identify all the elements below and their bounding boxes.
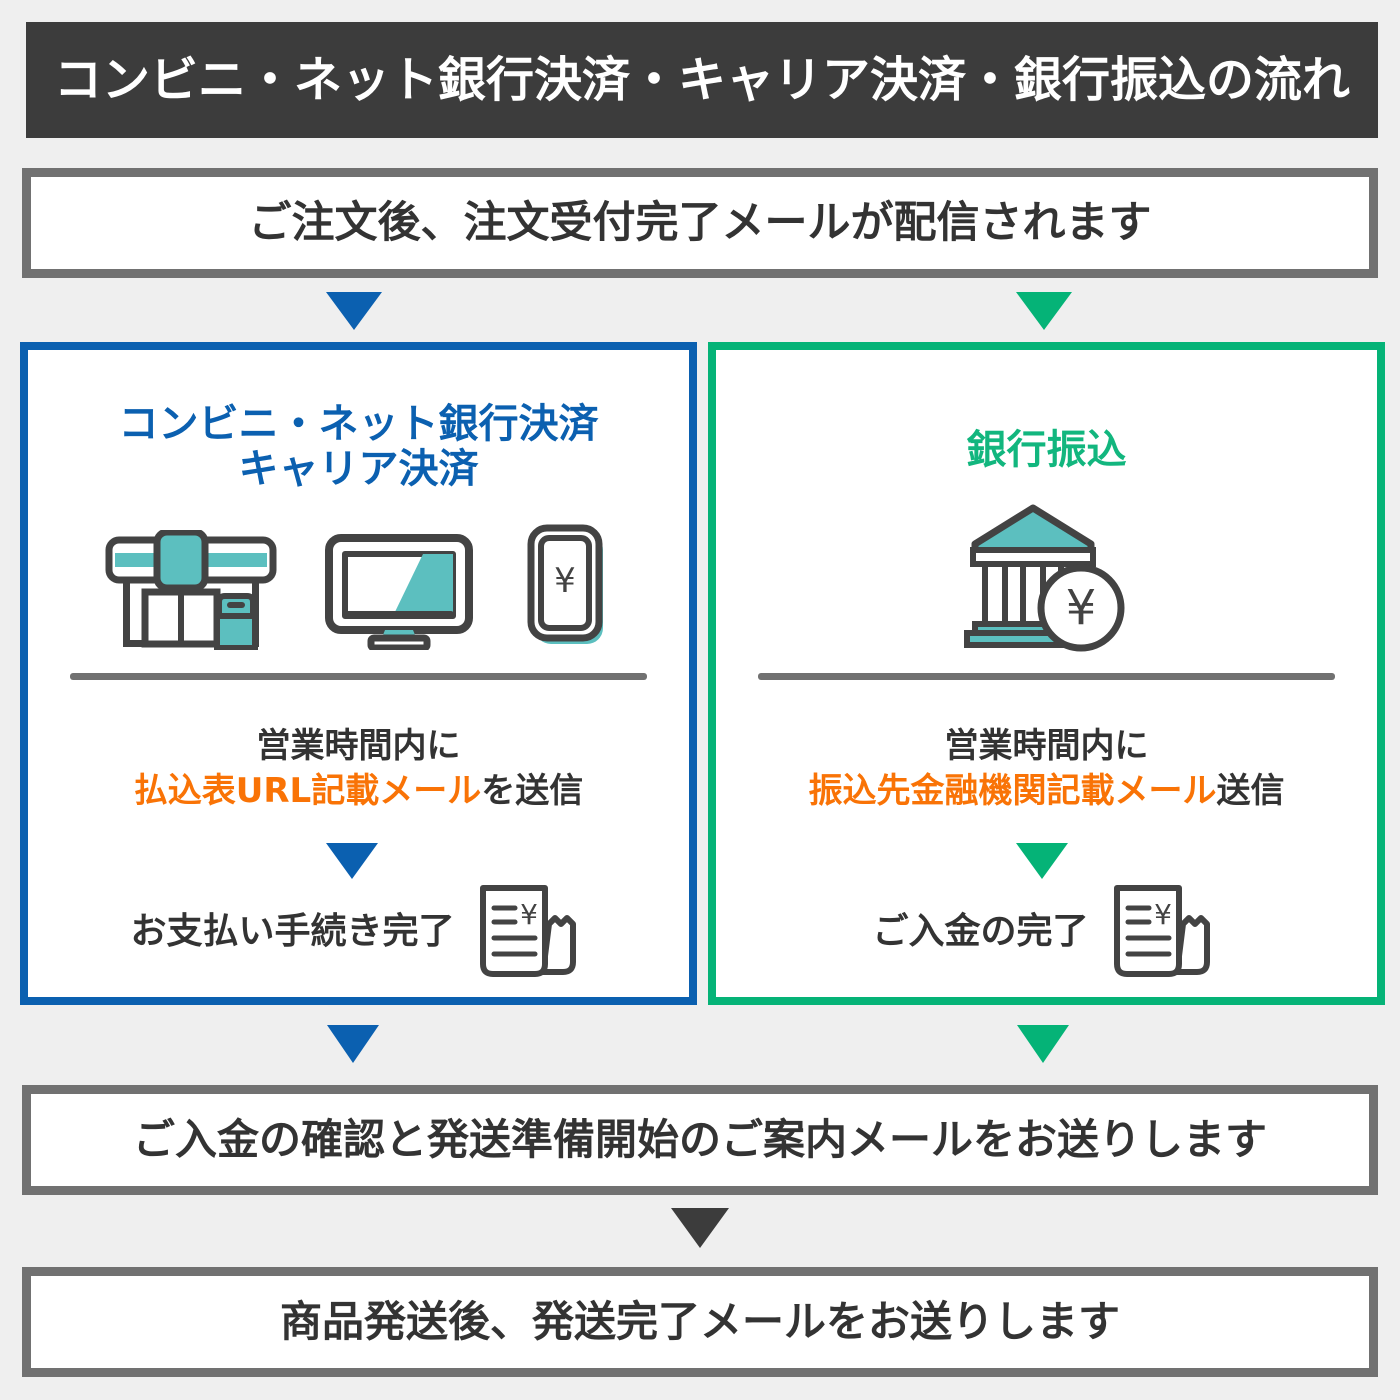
panel-convenience-heading-line2: キャリア決済 <box>239 446 479 492</box>
svg-text:¥: ¥ <box>1154 898 1172 931</box>
panel-bank-note-highlight: 振込先金融機関記載メール <box>809 771 1217 811</box>
svg-text:¥: ¥ <box>554 561 576 601</box>
arrow-down-bank-to-result-icon <box>1016 843 1068 879</box>
panel-bank-divider <box>758 673 1335 680</box>
smartphone-yen-icon: ¥ <box>517 524 617 650</box>
invoice-yen-icon: ¥ <box>469 880 587 984</box>
arrow-down-to-shipped-icon <box>671 1208 729 1248</box>
panel-convenience-icon-row: ¥ <box>28 530 689 650</box>
diagram-title-bar: コンビニ・ネット銀行決済・キャリア決済・銀行振込の流れ <box>26 22 1378 138</box>
arrow-down-cvs-to-result-icon <box>326 843 378 879</box>
panel-convenience-heading-line1: コンビニ・ネット銀行決済 <box>119 401 599 447</box>
panel-bank-result-label: ご入金の完了 <box>872 914 1088 950</box>
panel-convenience-payment: コンビニ・ネット銀行決済 キャリア決済 <box>20 342 697 1005</box>
arrow-down-to-cvs-panel-icon <box>326 292 382 330</box>
step-order-received: ご注文後、注文受付完了メールが配信されます <box>22 168 1378 278</box>
panel-convenience-heading: コンビニ・ネット銀行決済 キャリア決済 <box>28 402 689 492</box>
step-shipment-complete: 商品発送後、発送完了メールをお送りします <box>22 1267 1378 1377</box>
step-order-received-label: ご注文後、注文受付完了メールが配信されます <box>249 202 1152 245</box>
panel-bank-heading: 銀行振込 <box>716 428 1377 473</box>
panel-convenience-divider <box>70 673 647 680</box>
arrow-down-cvs-to-confirm-icon <box>327 1025 379 1063</box>
arrow-down-bank-to-confirm-icon <box>1017 1025 1069 1063</box>
panel-convenience-result-label: お支払い手続き完了 <box>130 914 454 950</box>
panel-bank-note-line1: 営業時間内に <box>945 726 1149 766</box>
bank-yen-icon: ¥ <box>961 500 1133 652</box>
payment-flow-diagram: コンビニ・ネット銀行決済・キャリア決済・銀行振込の流れ ご注文後、注文受付完了メ… <box>0 0 1400 1400</box>
page-title: コンビニ・ネット銀行決済・キャリア決済・銀行振込の流れ <box>54 56 1350 104</box>
panel-bank-result: ご入金の完了 ¥ <box>716 880 1377 984</box>
invoice-yen-icon: ¥ <box>1103 880 1221 984</box>
step-shipment-complete-label: 商品発送後、発送完了メールをお送りします <box>280 1301 1120 1343</box>
panel-bank-heading-line1: 銀行振込 <box>967 427 1127 473</box>
panel-bank-transfer: 銀行振込 ¥ <box>708 342 1385 1005</box>
monitor-icon <box>319 530 479 650</box>
convenience-store-icon <box>101 530 281 650</box>
panel-convenience-note: 営業時間内に 払込表URL記載メールを送信 <box>28 724 689 814</box>
arrow-down-to-bank-panel-icon <box>1016 292 1072 330</box>
panel-convenience-result: お支払い手続き完了 ¥ <box>28 880 689 984</box>
panel-bank-note: 営業時間内に 振込先金融機関記載メール送信 <box>716 724 1377 814</box>
panel-bank-note-suffix: 送信 <box>1217 771 1285 811</box>
panel-bank-icon-row: ¥ <box>716 502 1377 652</box>
panel-convenience-note-highlight: 払込表URL記載メール <box>134 771 481 811</box>
step-payment-confirmed: ご入金の確認と発送準備開始のご案内メールをお送りします <box>22 1085 1378 1195</box>
panel-convenience-note-suffix: を送信 <box>481 771 583 811</box>
step-payment-confirmed-label: ご入金の確認と発送準備開始のご案内メールをお送りします <box>133 1119 1267 1161</box>
svg-text:¥: ¥ <box>1065 580 1096 636</box>
svg-text:¥: ¥ <box>520 898 538 931</box>
panel-convenience-note-line1: 営業時間内に <box>257 726 461 766</box>
